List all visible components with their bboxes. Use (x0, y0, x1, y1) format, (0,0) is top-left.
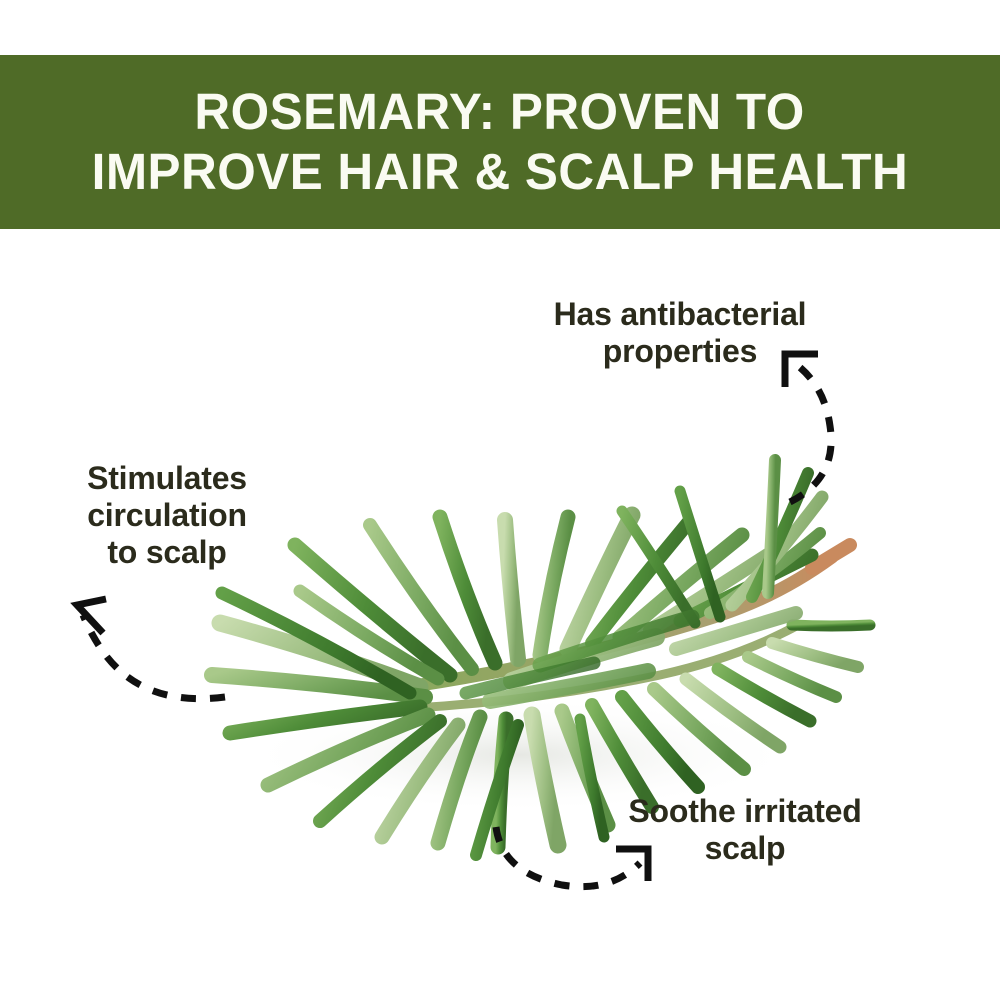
header-title-line-1: ROSEMARY: PROVEN TO (195, 82, 805, 142)
arrow-circulation-head (77, 599, 106, 633)
header-banner: ROSEMARY: PROVEN TO IMPROVE HAIR & SCALP… (0, 55, 1000, 229)
callout-soothe-label: Soothe irritated scalp (590, 793, 900, 867)
header-title-line-2: IMPROVE HAIR & SCALP HEALTH (92, 142, 909, 202)
infographic-page: ROSEMARY: PROVEN TO IMPROVE HAIR & SCALP… (0, 0, 1000, 1000)
callout-antibacterial-label: Has antibacterial properties (490, 296, 870, 370)
callout-circulation-label: Stimulates circulation to scalp (38, 460, 296, 571)
